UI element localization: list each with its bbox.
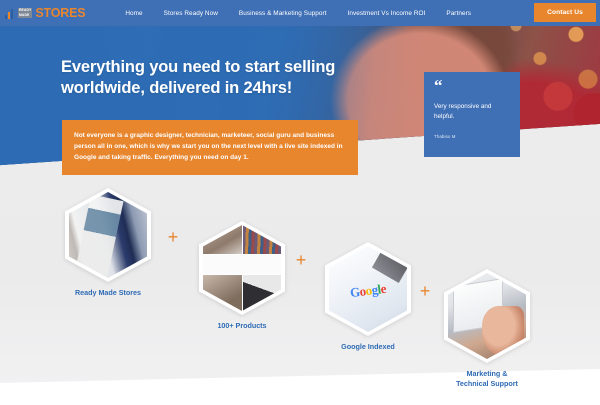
logo-stores-text: STORES xyxy=(35,6,85,20)
nav-item-partners[interactable]: Partners xyxy=(446,10,471,17)
nav-item-investment-vs-income-roi[interactable]: Investment Vs Income ROI xyxy=(348,10,426,17)
feature-label-ready-made-stores: Ready Made Stores xyxy=(62,288,154,298)
google-wordmark-icon: Google xyxy=(349,281,387,301)
hexagon-image-google-indexed: Google xyxy=(325,242,411,336)
feature-label-google-indexed: Google Indexed xyxy=(322,342,414,352)
hero-callout-text: Not everyone is a graphic designer, tech… xyxy=(74,130,346,164)
testimonial-author: Thabiso M xyxy=(434,134,510,139)
nav-links: Home Stores Ready Now Business & Marketi… xyxy=(125,10,471,17)
nav-item-business-marketing-support[interactable]: Business & Marketing Support xyxy=(239,10,327,17)
page-root: READY MADE STORES Home Stores Ready Now … xyxy=(0,0,600,405)
site-logo[interactable]: READY MADE STORES xyxy=(5,6,85,20)
hexagon-image-marketing-technical-support xyxy=(444,269,530,363)
feature-google-indexed[interactable]: Google Google Indexed xyxy=(322,242,414,352)
top-navbar: READY MADE STORES Home Stores Ready Now … xyxy=(0,0,600,26)
plus-icon-2: + xyxy=(293,253,309,269)
nav-item-home[interactable]: Home xyxy=(125,10,142,17)
feature-ready-made-stores[interactable]: Ready Made Stores xyxy=(62,188,154,298)
nav-item-stores-ready-now[interactable]: Stores Ready Now xyxy=(164,10,218,17)
logo-line-ready: READY xyxy=(18,8,32,13)
feature-label-marketing-technical-support: Marketing & Technical Support xyxy=(441,369,533,389)
testimonial-card: “ Very responsive and helpful. Thabiso M xyxy=(424,72,520,157)
quote-mark-icon: “ xyxy=(434,81,510,92)
features-row: Ready Made Stores + 100+ Products + xyxy=(0,178,600,383)
bar-chart-logo-icon xyxy=(5,8,16,19)
plus-icon-1: + xyxy=(165,230,181,246)
plus-icon-3: + xyxy=(417,284,433,300)
hero-heading-line-1: Everything you need to start selling xyxy=(61,57,335,78)
feature-marketing-technical-support[interactable]: Marketing & Technical Support xyxy=(441,269,533,389)
logo-line-made: MADE xyxy=(18,13,32,18)
logo-readymade-text: READY MADE xyxy=(18,8,32,18)
feature-100-products[interactable]: 100+ Products xyxy=(196,221,288,331)
feature-label-100-products: 100+ Products xyxy=(196,321,288,331)
contact-us-button[interactable]: Contact Us xyxy=(534,3,596,22)
testimonial-text: Very responsive and helpful. xyxy=(434,102,510,122)
hexagon-image-ready-made-stores xyxy=(65,188,151,282)
hero-heading: Everything you need to start selling wor… xyxy=(61,57,335,99)
hexagon-image-100-products xyxy=(199,221,285,315)
hero-heading-line-2: worldwide, delivered in 24hrs! xyxy=(61,78,335,99)
hero-callout-box: Not everyone is a graphic designer, tech… xyxy=(62,120,358,175)
